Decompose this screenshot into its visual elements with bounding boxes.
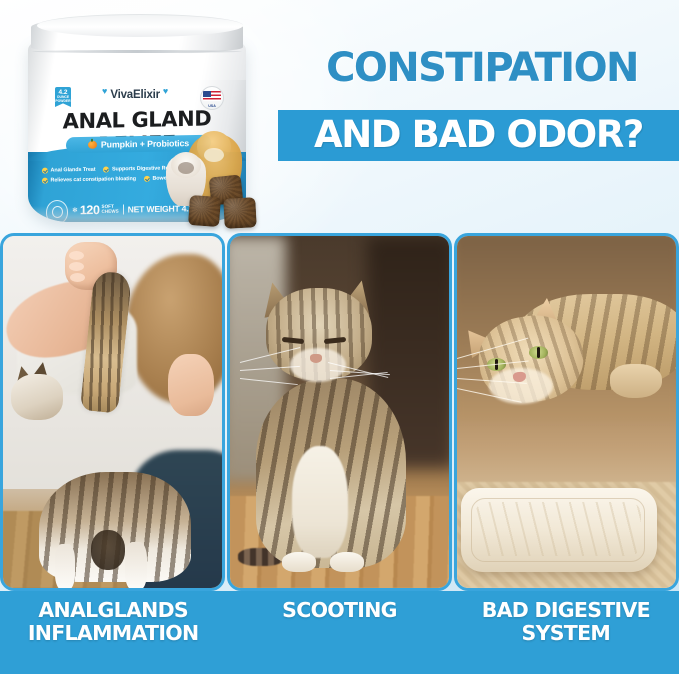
pumpkin-icon: [88, 141, 97, 149]
pillow-folds: [475, 502, 641, 556]
headline-line-2: AND BAD ODOR?: [278, 110, 679, 161]
knuckle: [70, 273, 85, 282]
whisker: [457, 360, 529, 369]
headline-band: AND BAD ODOR?: [278, 110, 679, 161]
check-icon: [144, 176, 150, 182]
whisker: [240, 366, 300, 371]
whisker: [457, 388, 522, 403]
shield-heart-icon: ♥: [102, 86, 107, 96]
whisker: [240, 378, 298, 385]
headline-line-1: CONSTIPATION: [292, 48, 672, 88]
caption-bad-digestive-system: BAD DIGESTIVE SYSTEM: [482, 599, 650, 645]
photo-panel-analglands-inflammation: [0, 233, 225, 591]
benefit-text: Relieves cat constipation bloating: [51, 176, 136, 183]
brand-name: VivaElixir: [110, 89, 160, 101]
cat-lying-on-pillow-photo: [457, 236, 676, 588]
cat-rear-patch: [91, 530, 125, 570]
caption-scooting: SCOOTING: [282, 599, 397, 622]
chew-treats-group: [188, 176, 266, 232]
caption-cell: SCOOTING: [226, 591, 452, 674]
flag-canton-icon: [203, 91, 211, 97]
cat-chest: [292, 446, 348, 558]
check-icon: [103, 166, 109, 172]
product-infographic: 4.2 OUNCE POWDER ♥ VivaElixir ♥ USA ANAL: [0, 0, 679, 674]
jar-lid-seam: [32, 50, 242, 53]
caption-cell: BAD DIGESTIVE SYSTEM: [453, 591, 679, 674]
heart-icon: ♥: [163, 86, 168, 96]
caption-analglands-inflammation: ANALGLANDS INFLAMMATION: [28, 599, 199, 645]
cat-hind-leg-right: [125, 542, 147, 588]
photo-panel-scooting: [227, 233, 452, 591]
caption-cell: ANALGLANDS INFLAMMATION: [0, 591, 226, 674]
list-item: Relieves cat constipation bloating: [42, 176, 136, 184]
chew-treat: [223, 197, 257, 229]
cat-front-paw: [610, 364, 662, 398]
cat-tail-lifted-by-owner-photo: [3, 236, 222, 588]
hero-section: 4.2 OUNCE POWDER ♥ VivaElixir ♥ USA ANAL: [0, 0, 679, 233]
benefit-text: Anal Glands Treat: [51, 167, 96, 174]
brand-logo: ♥ VivaElixir ♥: [102, 89, 168, 101]
ounce-badge-sub: OUNCE POWDER: [55, 96, 71, 104]
check-icon: [42, 168, 48, 174]
caption-band: ANALGLANDS INFLAMMATION SCOOTING BAD DIG…: [0, 591, 679, 674]
cat-front-paw-right: [330, 552, 364, 572]
knuckle: [69, 251, 84, 260]
list-item: Anal Glands Treat: [42, 167, 95, 174]
photo-panel-bad-digestive-system: [454, 233, 679, 591]
cat-hind-leg-left: [55, 544, 75, 588]
owner-second-hand: [168, 354, 214, 416]
cat-whiskers: [457, 354, 607, 404]
jar-lid: [31, 16, 243, 54]
check-icon: [42, 178, 48, 184]
photo-panel-row: [0, 233, 679, 591]
whisker: [457, 378, 527, 384]
brand-row: 4.2 OUNCE POWDER ♥ VivaElixir ♥ USA: [28, 86, 246, 108]
cat-whiskers: [240, 356, 390, 396]
tabby-cat-sitting-head-down-photo: [230, 236, 449, 588]
ounce-badge: 4.2 OUNCE POWDER: [55, 87, 71, 107]
knuckle: [69, 262, 84, 271]
flavor-label: Pumpkin + Probiotics: [101, 138, 189, 150]
chew-treat: [188, 195, 221, 227]
pillow: [461, 488, 657, 572]
cat-head: [11, 374, 63, 420]
jar-lid-top: [37, 14, 243, 37]
cat-front-paw-left: [282, 552, 316, 572]
